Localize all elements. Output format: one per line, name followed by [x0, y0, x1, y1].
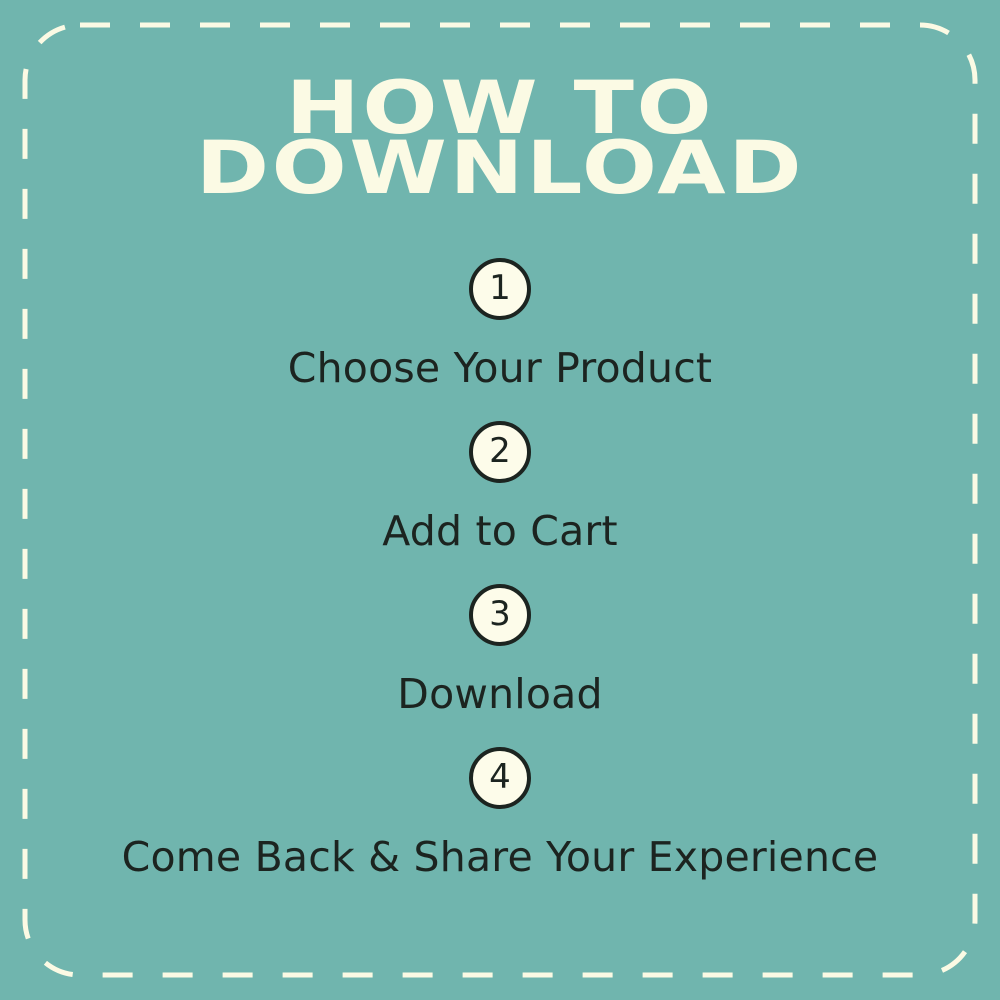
step-item-1: 1 Choose Your Product: [0, 258, 1000, 391]
step-badge-3: 3: [469, 584, 531, 646]
step-number-1: 1: [489, 271, 511, 305]
title-line-download: DOWNLOAD: [0, 138, 1000, 201]
step-badge-4: 4: [469, 747, 531, 809]
step-badge-1: 1: [469, 258, 531, 320]
step-item-2: 2 Add to Cart: [0, 421, 1000, 554]
step-number-3: 3: [489, 597, 511, 631]
step-badge-2: 2: [469, 421, 531, 483]
step-label-1: Choose Your Product: [0, 346, 1000, 391]
step-item-3: 3 Download: [0, 584, 1000, 717]
step-item-4: 4 Come Back & Share Your Experience: [0, 747, 1000, 880]
step-label-2: Add to Cart: [0, 509, 1000, 554]
step-label-4: Come Back & Share Your Experience: [0, 835, 1000, 880]
poster-title: HOW TO DOWNLOAD: [0, 78, 1000, 197]
step-number-4: 4: [489, 760, 511, 794]
how-to-download-poster: HOW TO DOWNLOAD 1 Choose Your Product 2 …: [0, 0, 1000, 1000]
steps-list: 1 Choose Your Product 2 Add to Cart 3 Do…: [0, 258, 1000, 880]
step-label-3: Download: [0, 672, 1000, 717]
step-number-2: 2: [489, 434, 511, 468]
